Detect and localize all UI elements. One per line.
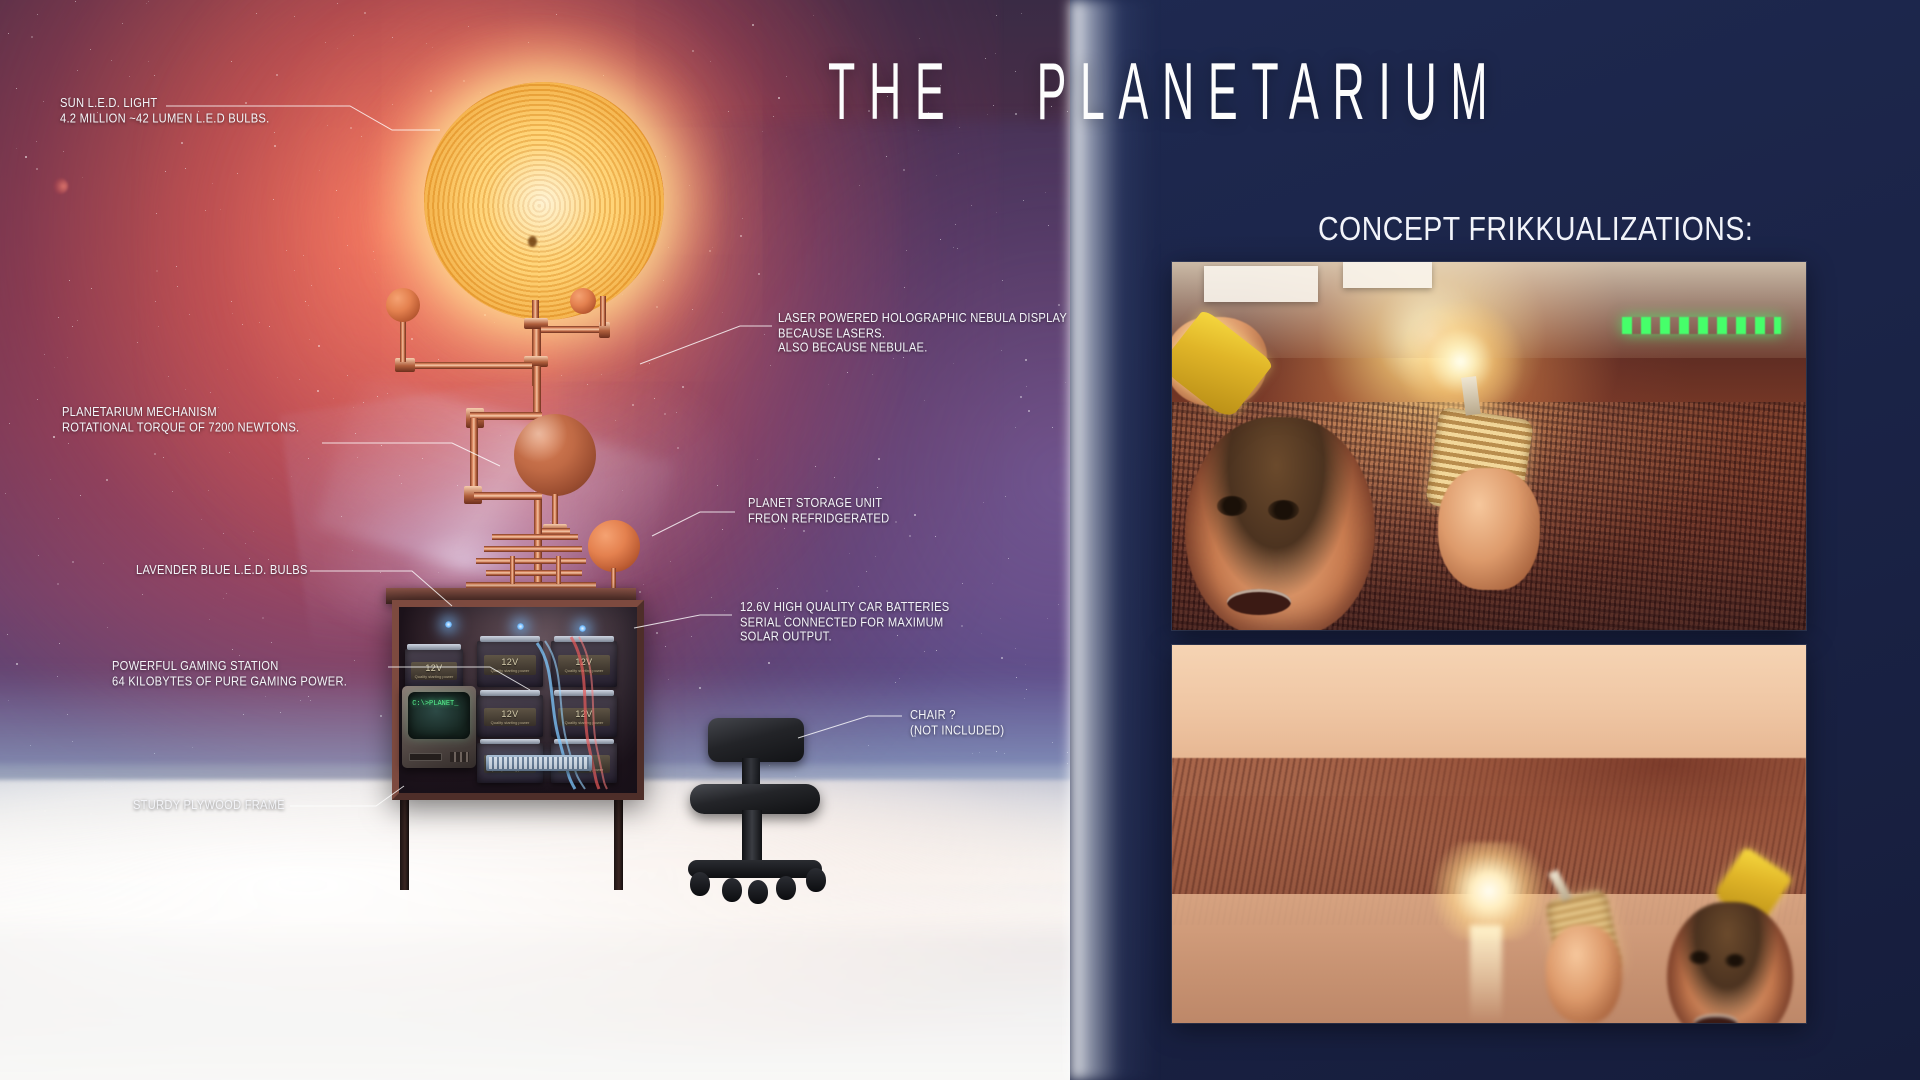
callout-leader-lines [0,0,1920,1080]
callout-laser-nebula-display: LASER POWERED HOLOGRAPHIC NEBULA DISPLAY… [778,312,1067,357]
callout-sun-led-light: SUN L.E.D. LIGHT 4.2 MILLION ~42 LUMEN L… [60,97,269,127]
callout-gaming-station: POWERFUL GAMING STATION 64 KILOBYTES OF … [112,660,347,690]
callout-planet-storage-unit: PLANET STORAGE UNIT FREON REFRIDGERATED [748,497,889,527]
callout-lavender-blue-led-bulbs: LAVENDER BLUE L.E.D. BULBS [136,564,308,579]
planetarium-poster: 12V Quality starting power 12V Quality s… [0,0,1920,1080]
callout-planetarium-mechanism: PLANETARIUM MECHANISM ROTATIONAL TORQUE … [62,406,299,436]
callout-chair: CHAIR ? (NOT INCLUDED) [910,709,1004,739]
callout-plywood-frame: STURDY PLYWOOD FRAME [133,799,285,814]
callout-car-batteries: 12.6V HIGH QUALITY CAR BATTERIES SERIAL … [740,601,949,646]
